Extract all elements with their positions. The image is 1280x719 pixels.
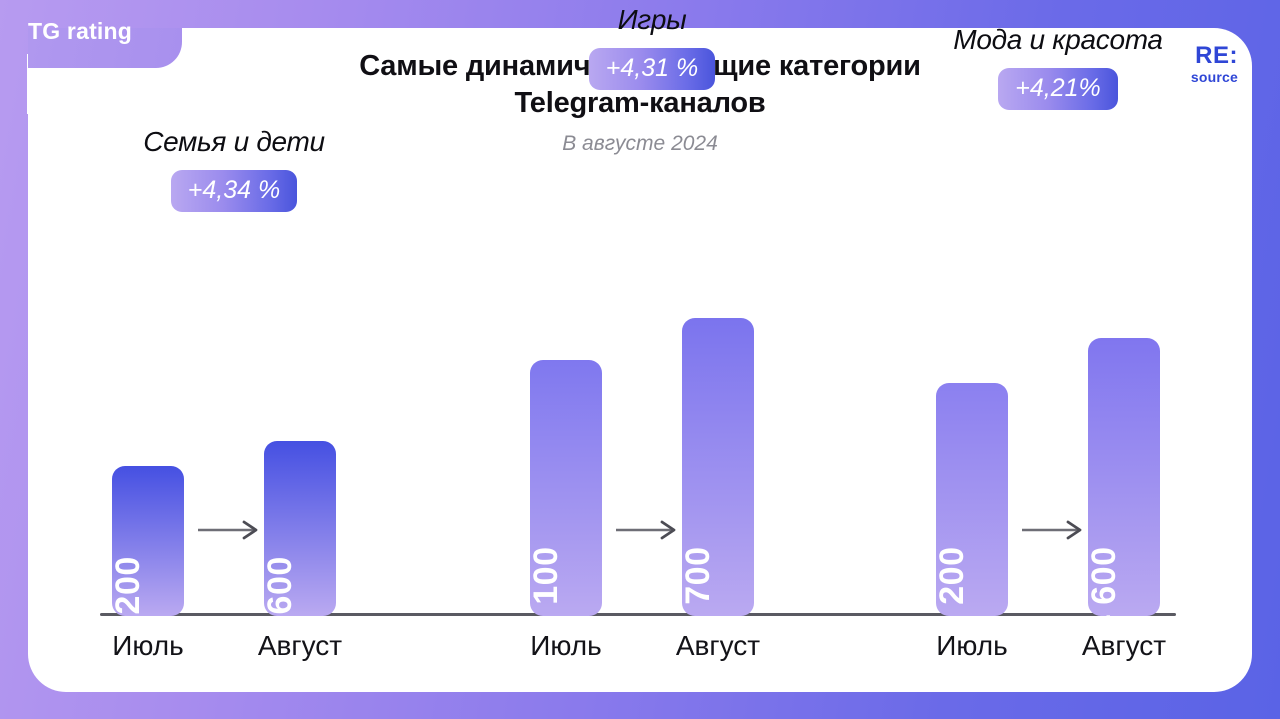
growth-badge: +4,21% — [998, 68, 1118, 110]
arrow-right-icon — [1020, 519, 1088, 541]
axis-label-august: Август — [235, 630, 365, 662]
axis-label-july: Июль — [83, 630, 213, 662]
bar-value-label: 9 600 — [264, 556, 300, 616]
arrow-right-icon — [196, 519, 264, 541]
group-header: Мода и красота +4,21% — [924, 24, 1192, 110]
chart-group-family: Семья и дети +4,34 % 9 200 9 600 Июль Ав… — [100, 116, 368, 676]
group-axis-labels: Июль Август — [924, 618, 1192, 662]
axis-label-july: Июль — [501, 630, 631, 662]
growth-badge: +4,34 % — [171, 170, 297, 212]
axis-label-august: Август — [1059, 630, 1189, 662]
bar-value-label: 37 100 — [530, 547, 566, 617]
bar-chart: Семья и дети +4,34 % 9 200 9 600 Июль Ав… — [28, 28, 1252, 692]
axis-label-july: Июль — [907, 630, 1037, 662]
group-header: Семья и дети +4,34 % — [100, 126, 368, 212]
bar-value-label: 33 200 — [936, 547, 972, 617]
chart-group-games: Игры +4,31 % 37 100 38 700 Июль Август — [518, 116, 786, 676]
bar-july: 37 100 — [530, 360, 602, 616]
group-header: Игры +4,31 % — [518, 4, 786, 90]
group-axis-labels: Июль Август — [518, 618, 786, 662]
axis-label-august: Август — [653, 630, 783, 662]
bar-value-label: 9 200 — [112, 556, 148, 616]
arrow-right-icon — [614, 519, 682, 541]
group-axis-labels: Июль Август — [100, 618, 368, 662]
bar-value-label: 34 600 — [1088, 547, 1124, 617]
chart-group-fashion: Мода и красота +4,21% 33 200 34 600 Июль… — [924, 116, 1192, 676]
category-name: Семья и дети — [100, 126, 368, 158]
bar-august: 9 600 — [264, 441, 336, 616]
category-name: Игры — [518, 4, 786, 36]
category-name: Мода и красота — [924, 24, 1192, 56]
bar-august: 38 700 — [682, 318, 754, 616]
growth-badge: +4,31 % — [589, 48, 715, 90]
bar-july: 9 200 — [112, 466, 184, 616]
bar-value-label: 38 700 — [682, 547, 718, 617]
bar-july: 33 200 — [936, 383, 1008, 616]
bar-august: 34 600 — [1088, 338, 1160, 616]
